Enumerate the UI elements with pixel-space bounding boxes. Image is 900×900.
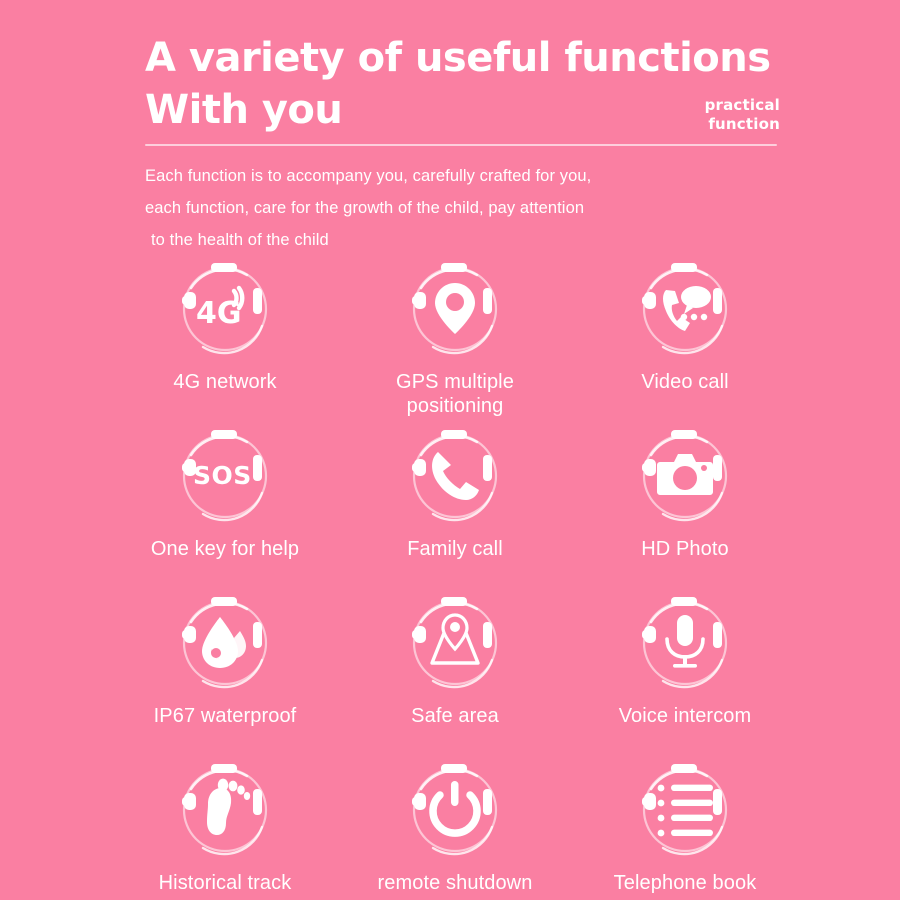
watch-frame	[629, 419, 741, 531]
footprint-icon	[169, 753, 281, 865]
sos-text: SOS	[193, 461, 252, 490]
feature-label: HD Photo	[641, 537, 729, 561]
feature-label: 4G network	[173, 370, 276, 394]
feature-label: Voice intercom	[619, 704, 752, 728]
watch-frame	[169, 753, 281, 865]
watch-frame	[399, 753, 511, 865]
description-line-2: each function, care for the growth of th…	[145, 192, 780, 224]
feature-label: Historical track	[159, 871, 292, 895]
feature-item-hd-photo[interactable]: HD Photo	[570, 419, 800, 586]
watch-frame: SOS	[169, 419, 281, 531]
badge-line-1: practical	[705, 96, 780, 115]
sos-icon: SOS	[169, 419, 281, 531]
camera-icon	[629, 419, 741, 531]
4g-signal-icon: 4G	[169, 252, 281, 364]
badge-line-2: function	[705, 115, 780, 134]
feature-label: Family call	[407, 537, 503, 561]
page-header: A variety of useful functions With you p…	[145, 32, 780, 256]
feature-label: One key for help	[151, 537, 299, 561]
location-pin-icon	[399, 252, 511, 364]
feature-item-sos[interactable]: SOS One key for help	[110, 419, 340, 586]
feature-label: GPS multiple positioning	[396, 370, 514, 418]
watch-frame	[629, 753, 741, 865]
description-line-1: Each function is to accompany you, caref…	[145, 160, 780, 192]
water-drop-icon	[169, 586, 281, 698]
watch-frame: 4G	[169, 252, 281, 364]
feature-label: Video call	[641, 370, 728, 394]
practical-function-badge: practical function	[705, 96, 780, 134]
feature-item-ip67-waterproof[interactable]: IP67 waterproof	[110, 586, 340, 753]
feature-label: Safe area	[411, 704, 499, 728]
feature-item-family-call[interactable]: Family call	[340, 419, 570, 586]
watch-frame	[629, 586, 741, 698]
feature-label: Telephone book	[614, 871, 757, 895]
watch-frame	[399, 419, 511, 531]
header-divider	[145, 144, 777, 146]
power-icon	[399, 753, 511, 865]
feature-grid: 4G 4G network	[110, 252, 800, 900]
feature-item-safe-area[interactable]: Safe area	[340, 586, 570, 753]
page-title-line1: A variety of useful functions	[145, 32, 780, 84]
feature-label: remote shutdown	[378, 871, 533, 895]
video-call-icon	[629, 252, 741, 364]
headline-row-1: A variety of useful functions	[145, 32, 780, 84]
headline-row-2: With you practical function	[145, 84, 780, 136]
watch-frame	[629, 252, 741, 364]
watch-frame	[399, 252, 511, 364]
header-description: Each function is to accompany you, caref…	[145, 160, 780, 256]
feature-item-voice-intercom[interactable]: Voice intercom	[570, 586, 800, 753]
feature-item-telephone-book[interactable]: Telephone book	[570, 753, 800, 900]
watch-frame	[169, 586, 281, 698]
feature-item-historical-track[interactable]: Historical track	[110, 753, 340, 900]
watch-frame	[399, 586, 511, 698]
feature-item-gps-positioning[interactable]: GPS multiple positioning	[340, 252, 570, 419]
map-pin-area-icon	[399, 586, 511, 698]
feature-label: IP67 waterproof	[154, 704, 297, 728]
microphone-icon	[629, 586, 741, 698]
feature-item-4g-network[interactable]: 4G 4G network	[110, 252, 340, 419]
feature-item-video-call[interactable]: Video call	[570, 252, 800, 419]
feature-item-remote-shutdown[interactable]: remote shutdown	[340, 753, 570, 900]
page-title-line2: With you	[145, 84, 780, 136]
list-icon	[629, 753, 741, 865]
phone-handset-icon	[399, 419, 511, 531]
